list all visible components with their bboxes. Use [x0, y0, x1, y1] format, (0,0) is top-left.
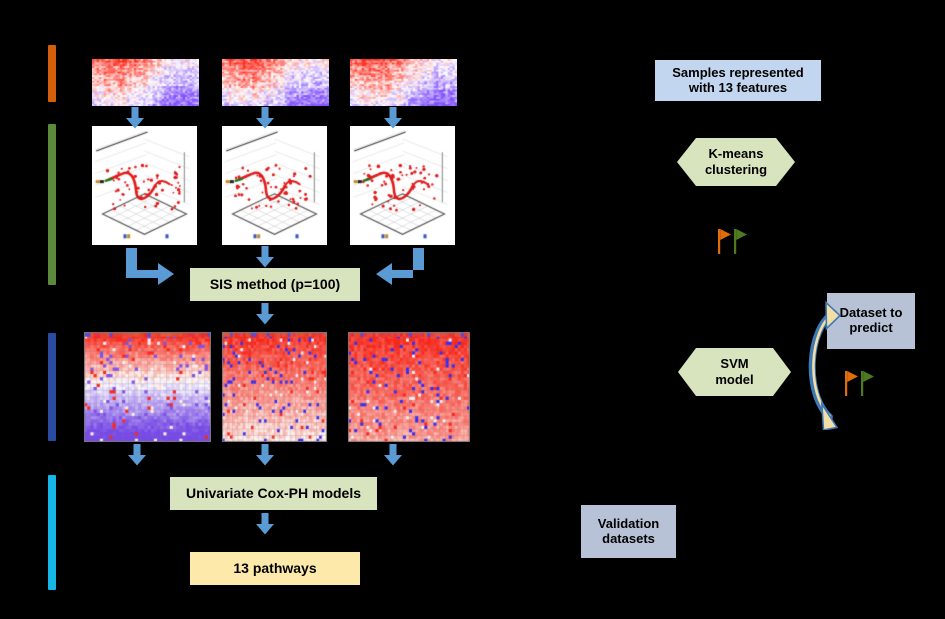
arrow-cox-to-pathways [254, 513, 276, 535]
kmeans-clustering-hex[interactable]: K-meansclustering [677, 138, 795, 186]
svm-model-hex[interactable]: SVMmodel [678, 348, 791, 396]
heatmap-panel-2 [222, 59, 329, 106]
scatter3d-panel-1-canvas [92, 126, 197, 245]
arrow-heatmap-to-scatter-3 [382, 107, 404, 129]
flag-orange [845, 371, 858, 396]
flag-orange [718, 229, 731, 254]
svm-predict-curved-arrow [800, 300, 842, 430]
flag-pair-clusters [716, 226, 750, 256]
arrow-scatter-to-sis-center [254, 246, 276, 268]
scatter3d-panel-2 [222, 126, 327, 245]
stage-bar-blue [48, 333, 56, 441]
cox-models-box-label: Univariate Cox-PH models [186, 485, 361, 501]
arrow-sis-to-matrices [254, 303, 276, 325]
validation-datasets-bracket [683, 471, 699, 589]
arrow-matrix-to-cox-1 [126, 444, 148, 466]
cox-models-box[interactable]: Univariate Cox-PH models [170, 477, 377, 510]
flag-pair-predicted [843, 368, 877, 398]
correlation-matrix-3-canvas [348, 332, 470, 442]
dataset-to-predict-box-label: Dataset topredict [840, 306, 903, 336]
sis-method-box-label: SIS method (p=100) [210, 276, 340, 292]
flag-green [861, 371, 874, 396]
validation-datasets-box[interactable]: Validationdatasets [581, 505, 676, 558]
scatter3d-panel-2-canvas [222, 126, 327, 245]
scatter3d-panel-3 [350, 126, 455, 245]
samples-features-box[interactable]: Samples representedwith 13 features [655, 60, 821, 101]
arrow-matrix-to-cox-2 [254, 444, 276, 466]
sis-method-box[interactable]: SIS method (p=100) [190, 268, 360, 301]
heatmap-panel-1-canvas [92, 59, 199, 106]
arrow-scatter-to-sis-right [376, 248, 426, 290]
heatmap-panel-2-canvas [222, 59, 329, 106]
scatter3d-panel-3-canvas [350, 126, 455, 245]
pathways-box[interactable]: 13 pathways [190, 552, 360, 585]
arrow-matrix-to-cox-3 [382, 444, 404, 466]
arrow-heatmap-to-scatter-2 [254, 107, 276, 129]
stage-bar-green [48, 124, 56, 285]
correlation-matrix-2 [222, 332, 327, 442]
pathways-box-label: 13 pathways [233, 560, 316, 576]
arrow-scatter-to-sis-left [126, 248, 176, 290]
correlation-matrix-1-canvas [84, 332, 211, 442]
arrow-heatmap-to-scatter-1 [124, 107, 146, 129]
heatmap-panel-1 [92, 59, 199, 106]
diagram-canvas: SIS method (p=100)Univariate Cox-PH mode… [0, 0, 945, 619]
correlation-matrix-2-canvas [222, 332, 327, 442]
validation-datasets-box-label: Validationdatasets [598, 517, 659, 547]
stage-bar-orange [48, 45, 56, 102]
heatmap-panel-3-canvas [350, 59, 457, 106]
samples-features-box-label: Samples representedwith 13 features [672, 66, 804, 96]
flag-green [734, 229, 747, 254]
stage-bar-cyan [48, 475, 56, 590]
correlation-matrix-1 [84, 332, 211, 442]
correlation-matrix-3 [348, 332, 470, 442]
scatter3d-panel-1 [92, 126, 197, 245]
heatmap-panel-3 [350, 59, 457, 106]
